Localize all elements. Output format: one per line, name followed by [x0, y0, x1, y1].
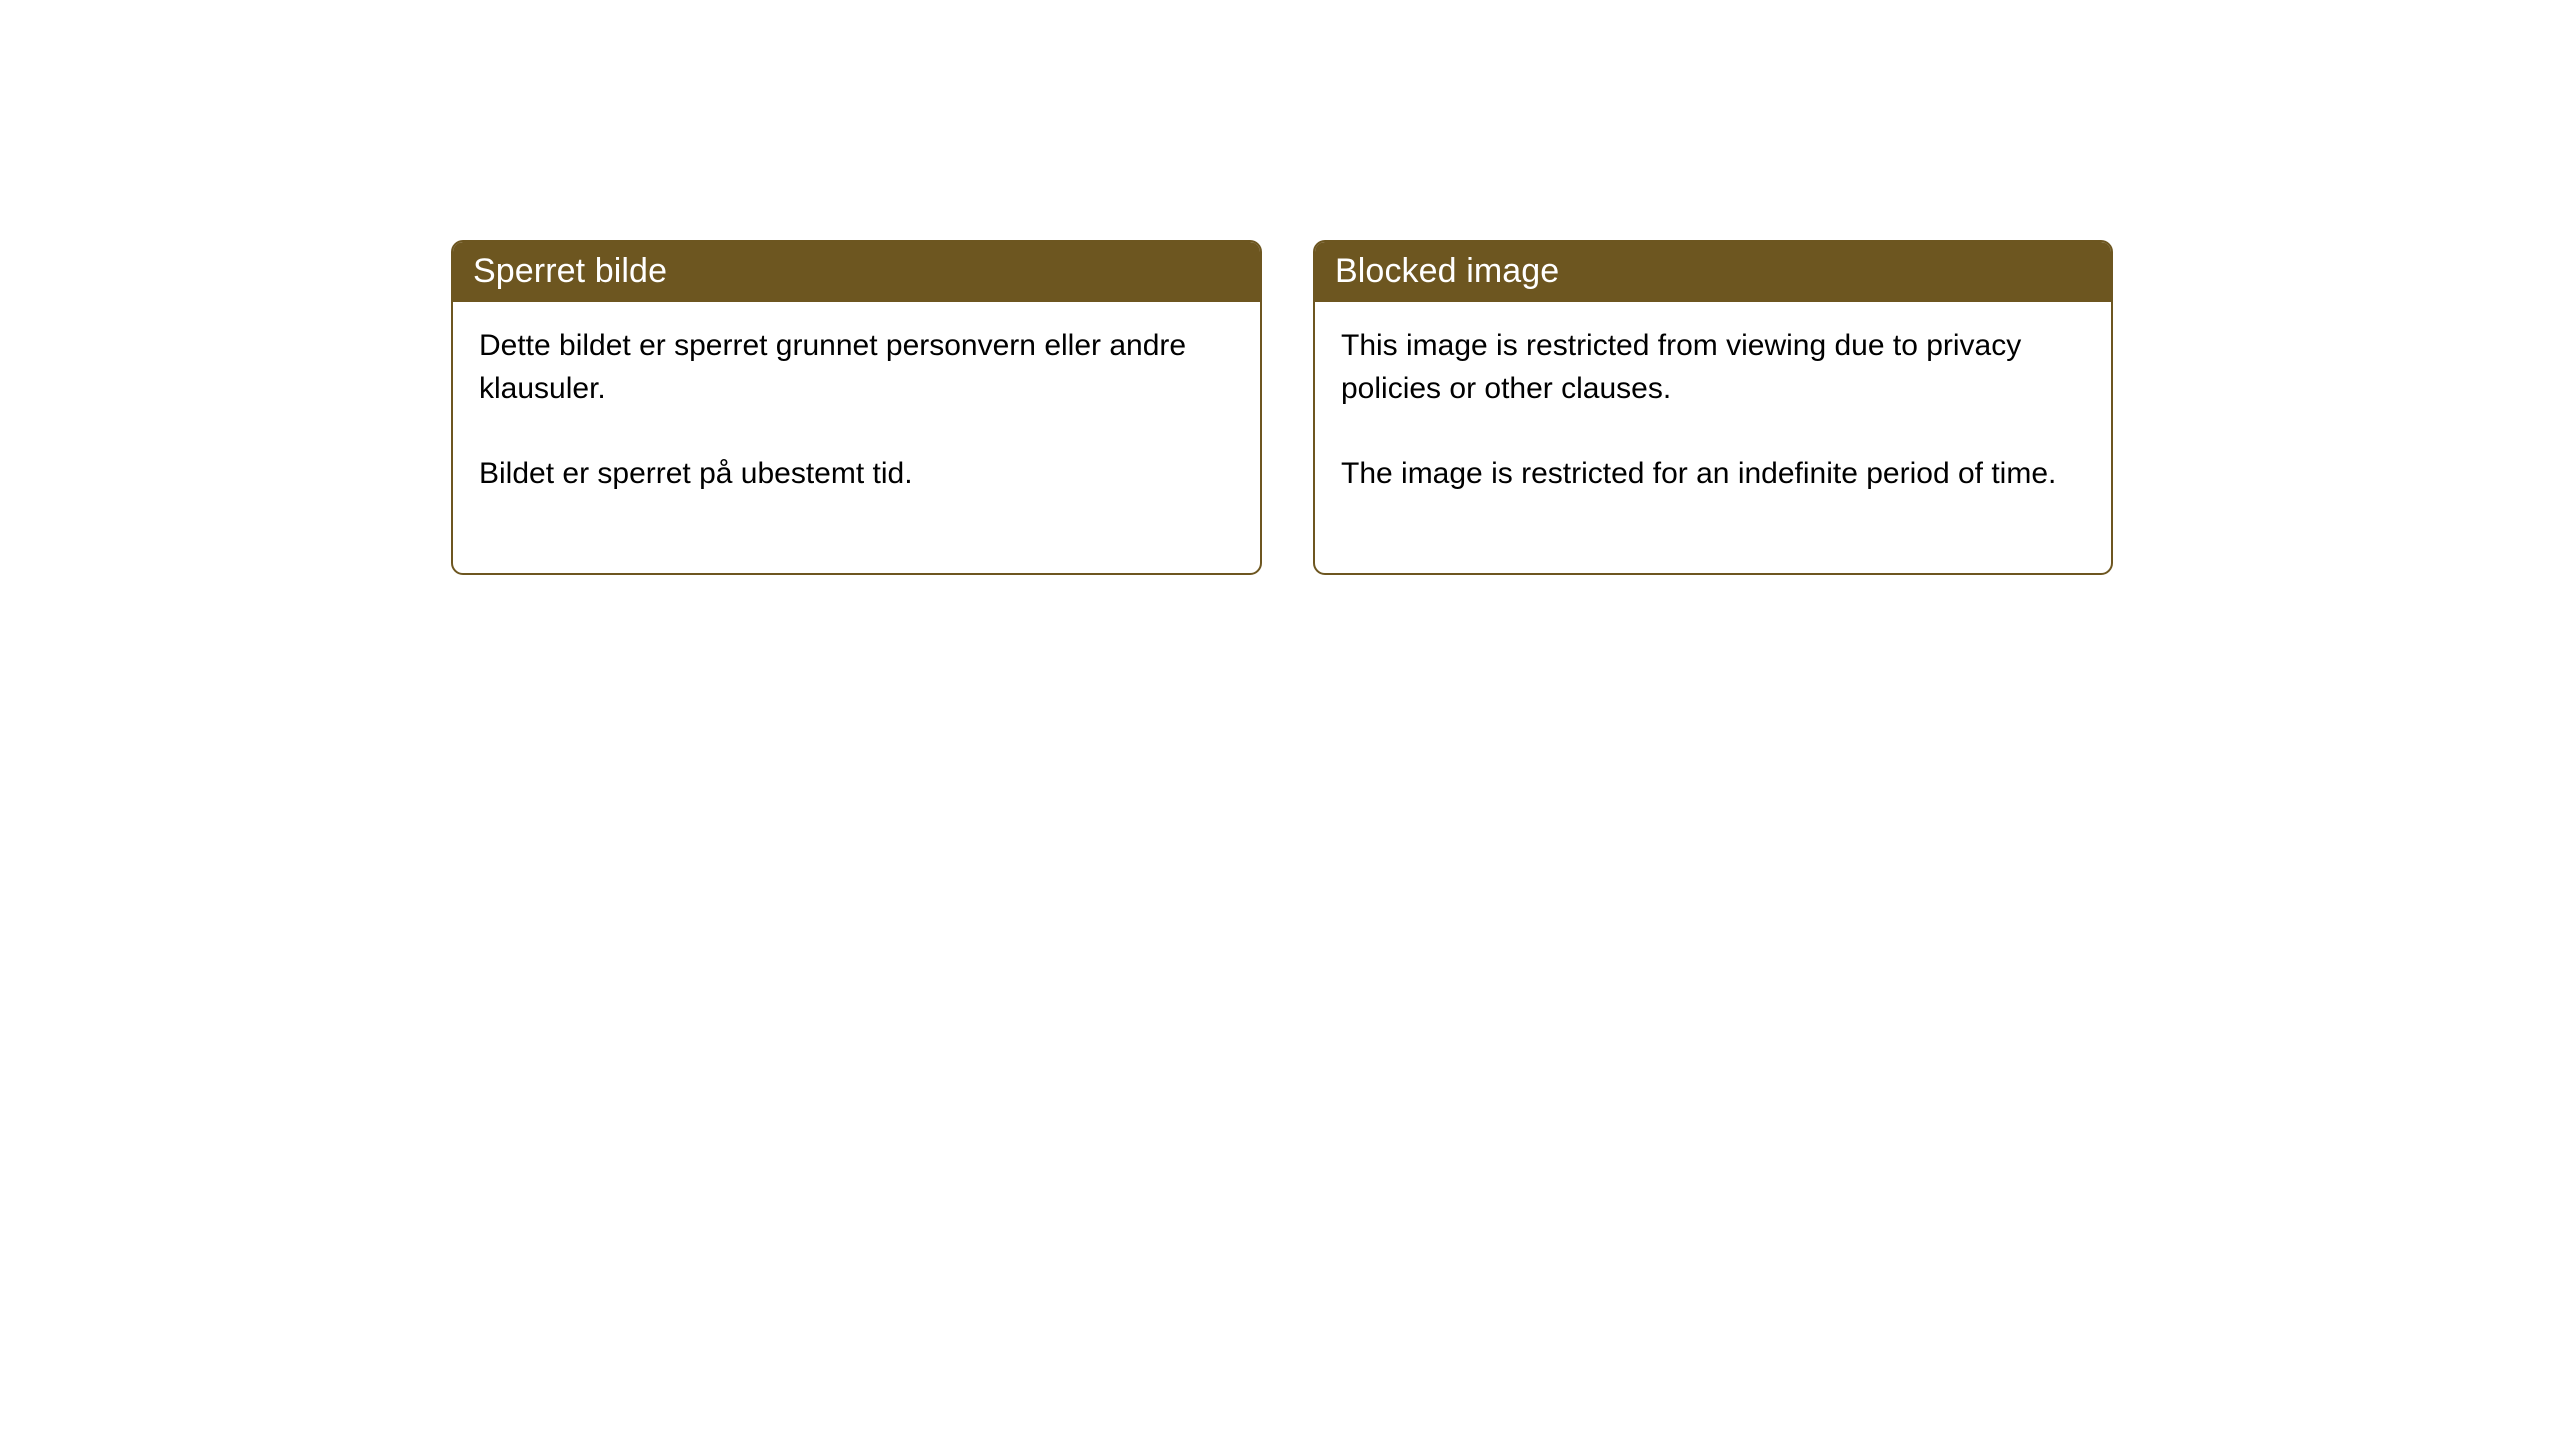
card-header-norwegian: Sperret bilde [451, 240, 1262, 302]
card-paragraph-reason-english: This image is restricted from viewing du… [1341, 324, 2087, 410]
blocked-image-notices: Sperret bilde Dette bildet er sperret gr… [451, 240, 2113, 575]
card-paragraph-duration-norwegian: Bildet er sperret på ubestemt tid. [479, 452, 1236, 495]
blocked-image-card-norwegian: Sperret bilde Dette bildet er sperret gr… [451, 240, 1262, 575]
blocked-image-card-english: Blocked image This image is restricted f… [1313, 240, 2113, 575]
card-body-norwegian: Dette bildet er sperret grunnet personve… [453, 302, 1260, 573]
card-body-english: This image is restricted from viewing du… [1315, 302, 2111, 573]
card-title-english: Blocked image [1335, 254, 1559, 288]
card-header-english: Blocked image [1313, 240, 2113, 302]
card-paragraph-duration-english: The image is restricted for an indefinit… [1341, 452, 2087, 495]
card-title-norwegian: Sperret bilde [473, 254, 667, 288]
card-paragraph-reason-norwegian: Dette bildet er sperret grunnet personve… [479, 324, 1236, 410]
